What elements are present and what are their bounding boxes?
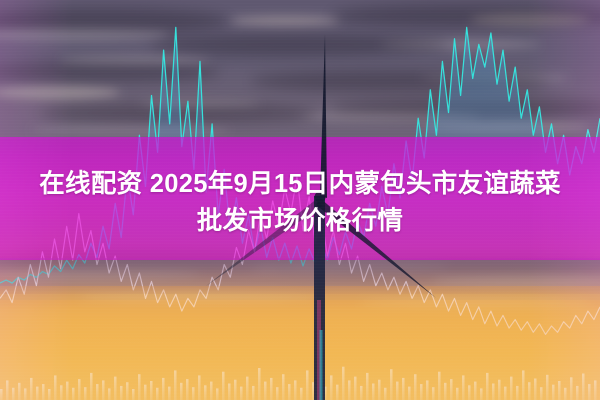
banner-image: 在线配资 2025年9月15日内蒙包头市友谊蔬菜 批发市场价格行情 [0,0,600,400]
caption-line-1: 在线配资 2025年9月15日内蒙包头市友谊蔬菜 [0,166,600,203]
caption-text: 在线配资 2025年9月15日内蒙包头市友谊蔬菜 批发市场价格行情 [0,166,600,240]
caption-line-2: 批发市场价格行情 [0,203,600,240]
